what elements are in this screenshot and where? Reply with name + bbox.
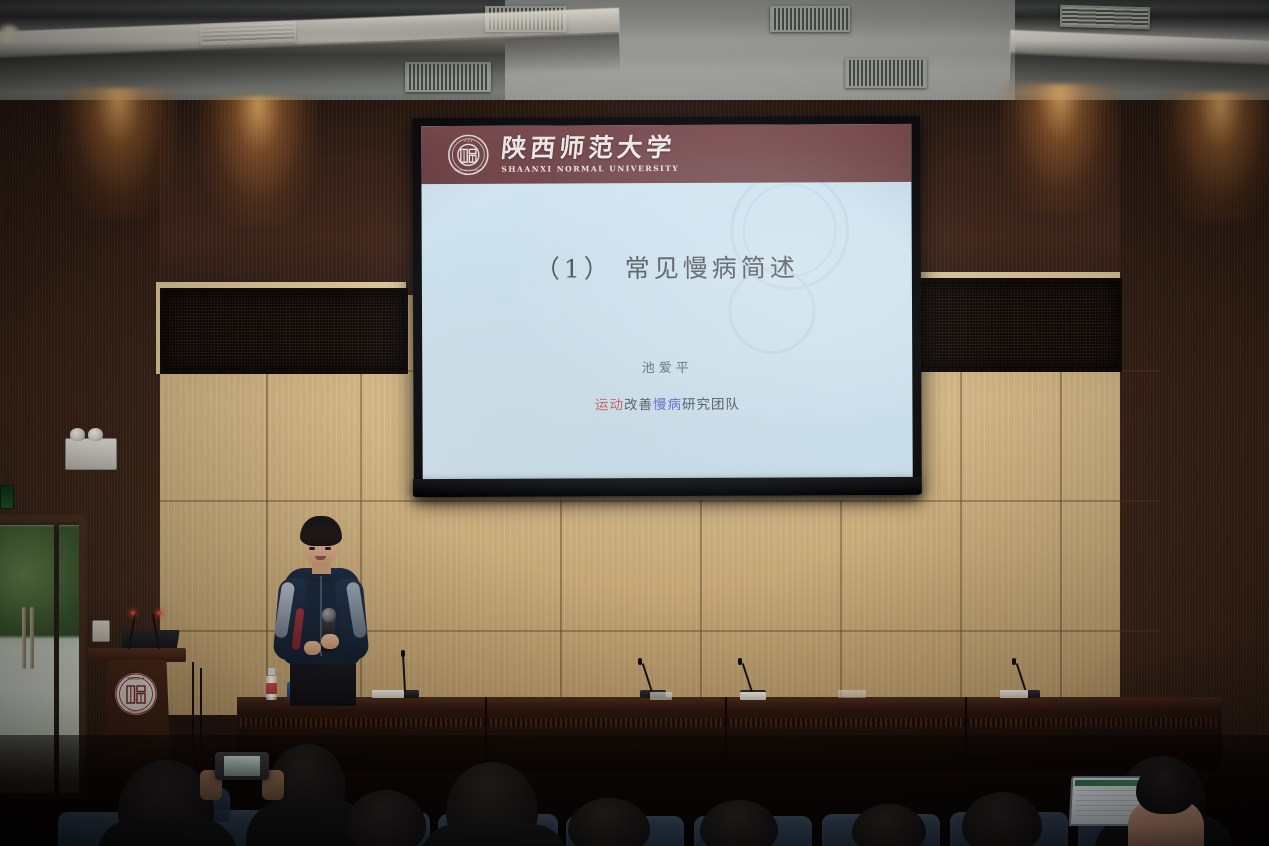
presenter-hand-right bbox=[321, 634, 339, 649]
presenter-legs bbox=[290, 658, 356, 706]
university-seal-icon: ★ ★ ★ SHAANXI NORMAL bbox=[447, 134, 489, 176]
slide-header-banner: ★ ★ ★ SHAANXI NORMAL 陕西师范大学 SHAANXI NORM… bbox=[421, 124, 911, 184]
outdoor-foliage bbox=[0, 525, 85, 637]
wall-seam bbox=[560, 500, 562, 700]
university-name-block: 陕西师范大学 SHAANXI NORMAL UNIVERSITY bbox=[501, 135, 679, 173]
table-reveal-trim bbox=[240, 718, 1220, 727]
svg-text:SHAANXI NORMAL UNIVERSITY: SHAANXI NORMAL UNIVERSITY bbox=[116, 710, 156, 713]
podium-university-seal-icon: 陕西师范大学 SHAANXI NORMAL UNIVERSITY bbox=[114, 672, 158, 716]
podium-desktop bbox=[88, 648, 186, 662]
ceiling-vent-3 bbox=[770, 6, 850, 32]
team-text-part1: 运动 bbox=[595, 397, 624, 413]
slide-author: 池爱平 bbox=[642, 357, 693, 376]
emergency-light bbox=[65, 438, 117, 470]
emergency-lamp-icon bbox=[70, 428, 85, 441]
svg-text:陕西师范大学: 陕西师范大学 bbox=[128, 677, 145, 681]
laptop-toolbar bbox=[1075, 780, 1143, 786]
team-text-part3: 慢病 bbox=[653, 397, 682, 413]
name-card bbox=[838, 690, 866, 698]
mic-head bbox=[638, 658, 642, 665]
wall-seam bbox=[266, 370, 268, 700]
wall-seam bbox=[840, 500, 842, 700]
ceiling-vent-6 bbox=[845, 58, 927, 88]
presenter-hand-left bbox=[304, 641, 321, 655]
name-card bbox=[372, 690, 404, 698]
microphone-grille bbox=[322, 608, 335, 622]
mic-indicator-led-left bbox=[131, 611, 135, 615]
lecture-hall-scene: ★ ★ ★ SHAANXI NORMAL 陕西师范大学 SHAANXI NORM… bbox=[0, 0, 1269, 846]
name-card bbox=[1000, 690, 1028, 698]
acoustic-panel-right bbox=[912, 278, 1122, 372]
phone-screen bbox=[224, 756, 260, 776]
wall-seam bbox=[700, 500, 702, 700]
slide-title: （1） 常见慢病简述 bbox=[535, 248, 799, 285]
mic-head bbox=[1012, 658, 1016, 665]
exit-sign bbox=[0, 485, 14, 509]
presentation-slide: ★ ★ ★ SHAANXI NORMAL 陕西师范大学 SHAANXI NORM… bbox=[421, 124, 913, 481]
wall-seam bbox=[160, 500, 1160, 502]
slide-body: （1） 常见慢病简述 池爱平 运动改善慢病研究团队 bbox=[421, 182, 912, 481]
door-handle[interactable] bbox=[30, 607, 34, 669]
university-name-en: SHAANXI NORMAL UNIVERSITY bbox=[501, 164, 679, 174]
mic-neck bbox=[1016, 663, 1027, 692]
mic-indicator-led-right bbox=[157, 611, 161, 615]
team-text-part4: 研究团队 bbox=[682, 397, 740, 413]
name-card bbox=[650, 692, 672, 700]
ceiling-vent-4 bbox=[1060, 5, 1151, 30]
mic-neck bbox=[742, 663, 753, 692]
audience-phone[interactable] bbox=[215, 752, 269, 780]
audience-laptop-user-head bbox=[1136, 762, 1196, 814]
door-handle[interactable] bbox=[22, 607, 26, 669]
name-card bbox=[740, 692, 766, 700]
svg-text:★ ★ ★: ★ ★ ★ bbox=[464, 139, 473, 143]
slide-team-line: 运动改善慢病研究团队 bbox=[595, 393, 740, 414]
audience-shoulders bbox=[420, 824, 568, 846]
audience-shoulders bbox=[96, 818, 238, 846]
svg-text:SHAANXI NORMAL: SHAANXI NORMAL bbox=[454, 169, 483, 172]
projection-screen-valance bbox=[413, 477, 921, 497]
presenter-eye-right bbox=[325, 547, 331, 550]
presenter-hair bbox=[300, 516, 342, 546]
presenter-speaker bbox=[272, 516, 372, 702]
university-name-cn: 陕西师范大学 bbox=[500, 135, 681, 162]
mic-neck bbox=[642, 663, 653, 692]
acoustic-panel-left bbox=[160, 288, 408, 374]
emergency-lamp-icon bbox=[88, 428, 103, 441]
team-text-part2: 改善 bbox=[624, 397, 653, 413]
wall-seam bbox=[960, 370, 962, 700]
mic-neck bbox=[402, 654, 406, 692]
wall-seam bbox=[1060, 370, 1062, 700]
projection-screen: ★ ★ ★ SHAANXI NORMAL 陕西师范大学 SHAANXI NORM… bbox=[412, 116, 922, 496]
presenter-eye-left bbox=[309, 547, 315, 550]
mic-head bbox=[401, 650, 405, 657]
mic-head bbox=[738, 658, 742, 665]
